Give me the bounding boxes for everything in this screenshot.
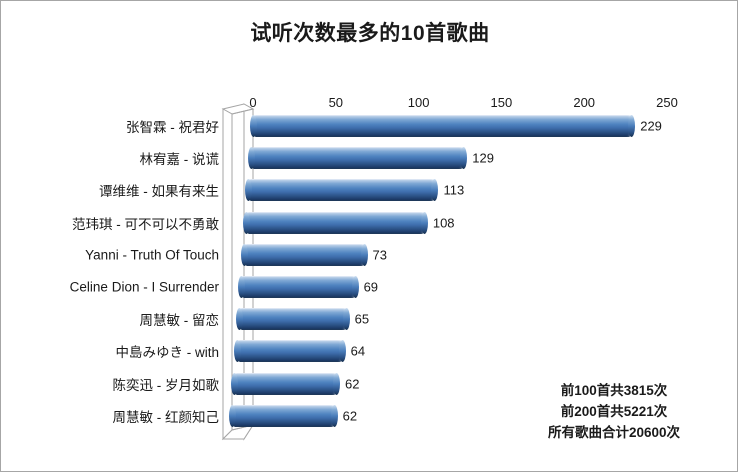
bar[interactable]	[246, 212, 425, 234]
bar-right-cap	[333, 373, 340, 395]
bar-left-cap	[250, 115, 257, 137]
bar-row: 62	[232, 405, 395, 427]
bar-left-cap	[243, 212, 250, 234]
bar-value-label: 62	[345, 376, 359, 391]
bar-right-cap	[628, 115, 635, 137]
bar-right-cap	[331, 405, 338, 427]
bar[interactable]	[234, 373, 337, 395]
x-axis-tick-label: 250	[656, 95, 678, 110]
bar-value-label: 113	[443, 183, 464, 198]
bar-row: 108	[246, 212, 485, 234]
bar-row: 229	[253, 115, 692, 137]
bar-left-cap	[234, 340, 241, 362]
bar[interactable]	[253, 115, 632, 137]
bar-right-cap	[421, 212, 428, 234]
bar-left-cap	[236, 308, 243, 330]
bar-right-cap	[339, 340, 346, 362]
x-axis-tick-label: 0	[249, 95, 256, 110]
bar-row: 62	[234, 373, 397, 395]
bar-row: 65	[239, 308, 407, 330]
bar[interactable]	[237, 340, 343, 362]
annotation-line: 前200首共5221次	[509, 401, 719, 422]
annotation-line: 前100首共3815次	[509, 380, 719, 401]
bar-value-label: 64	[351, 344, 365, 359]
bar-right-cap	[343, 308, 350, 330]
bar[interactable]	[244, 244, 365, 266]
bar-right-cap	[460, 147, 467, 169]
bar-left-cap	[245, 179, 252, 201]
bar-row: 113	[248, 179, 495, 201]
bar-row: 129	[251, 147, 525, 169]
bar[interactable]	[248, 179, 435, 201]
x-axis-tick-label: 200	[573, 95, 595, 110]
bar-left-cap	[238, 276, 245, 298]
chart-container: 试听次数最多的10首歌曲 050100150200250 张智霖 - 祝君好林宥…	[0, 0, 738, 472]
bar-left-cap	[241, 244, 248, 266]
bar[interactable]	[251, 147, 465, 169]
bar-left-cap	[229, 405, 236, 427]
bar-value-label: 73	[373, 247, 387, 262]
bar-right-cap	[431, 179, 438, 201]
x-axis-tick-label: 100	[408, 95, 430, 110]
bar[interactable]	[239, 308, 347, 330]
bar-value-label: 108	[433, 215, 455, 230]
bar-right-cap	[361, 244, 368, 266]
bar[interactable]	[241, 276, 355, 298]
bar[interactable]	[232, 405, 335, 427]
summary-annotations: 前100首共3815次前200首共5221次所有歌曲合计20600次	[509, 380, 719, 443]
bar-value-label: 229	[640, 119, 662, 134]
chart-title: 试听次数最多的10首歌曲	[1, 17, 738, 47]
bar-row: 64	[237, 340, 403, 362]
bar-left-cap	[231, 373, 238, 395]
x-axis-tick-label: 150	[491, 95, 513, 110]
x-axis-tick-label: 50	[329, 95, 343, 110]
bar-row: 69	[241, 276, 415, 298]
bar-right-cap	[352, 276, 359, 298]
bar-value-label: 62	[343, 408, 357, 423]
bar-value-label: 69	[364, 280, 378, 295]
annotation-line: 所有歌曲合计20600次	[509, 422, 719, 443]
bar-value-label: 65	[355, 312, 369, 327]
bar-value-label: 129	[472, 151, 494, 166]
bar-left-cap	[248, 147, 255, 169]
bar-row: 73	[244, 244, 425, 266]
